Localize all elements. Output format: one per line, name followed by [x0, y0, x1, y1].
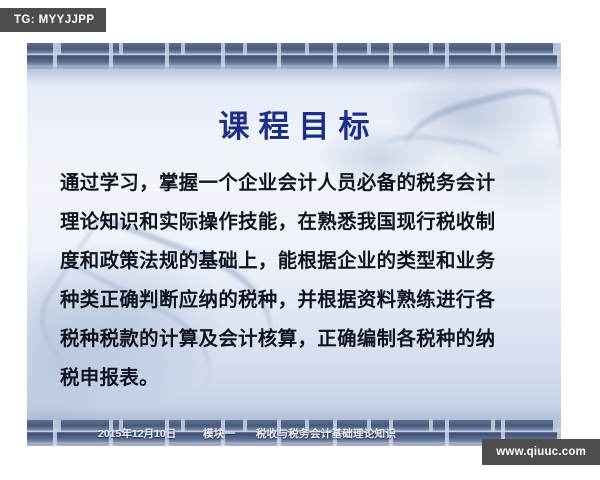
body-line: 通过学习，掌握一个企业会计人员必备的税务会计: [60, 163, 539, 202]
presentation-slide: 课程目标 通过学习，掌握一个企业会计人员必备的税务会计 理论知识和实际操作技能，…: [27, 43, 561, 446]
footer-date: 2015年12月10日: [98, 426, 176, 441]
body-line: 理论知识和实际操作技能，在熟悉我国现行税收制: [60, 202, 539, 241]
decorative-band-top: [27, 43, 561, 69]
slide-title: 课程目标: [27, 101, 561, 146]
body-line: 种类正确判断应纳的税种，并根据资料熟练进行各: [60, 280, 539, 319]
footer-module-title: 税收与税务会计基础理论知识: [256, 428, 396, 440]
band-fade-top: [27, 67, 561, 85]
slide-body-text: 通过学习，掌握一个企业会计人员必备的税务会计 理论知识和实际操作技能，在熟悉我国…: [60, 163, 539, 397]
body-line: 税种税款的计算及会计核算，正确编制各税种的纳: [60, 319, 539, 358]
source-tag-badge: TG: MYYJJPP: [0, 8, 106, 32]
body-line: 度和政策法规的基础上，能根据企业的类型和业务: [60, 241, 539, 280]
slide-footer: 2015年12月10日 模块一 税收与税务会计基础理论知识: [27, 420, 561, 446]
footer-module: 模块一 税收与税务会计基础理论知识: [203, 426, 396, 441]
brick-texture-top: [27, 43, 561, 69]
site-watermark-badge: www.qiuuc.com: [482, 439, 600, 465]
body-line: 税申报表。: [60, 358, 539, 397]
footer-module-label: 模块一: [203, 428, 235, 440]
